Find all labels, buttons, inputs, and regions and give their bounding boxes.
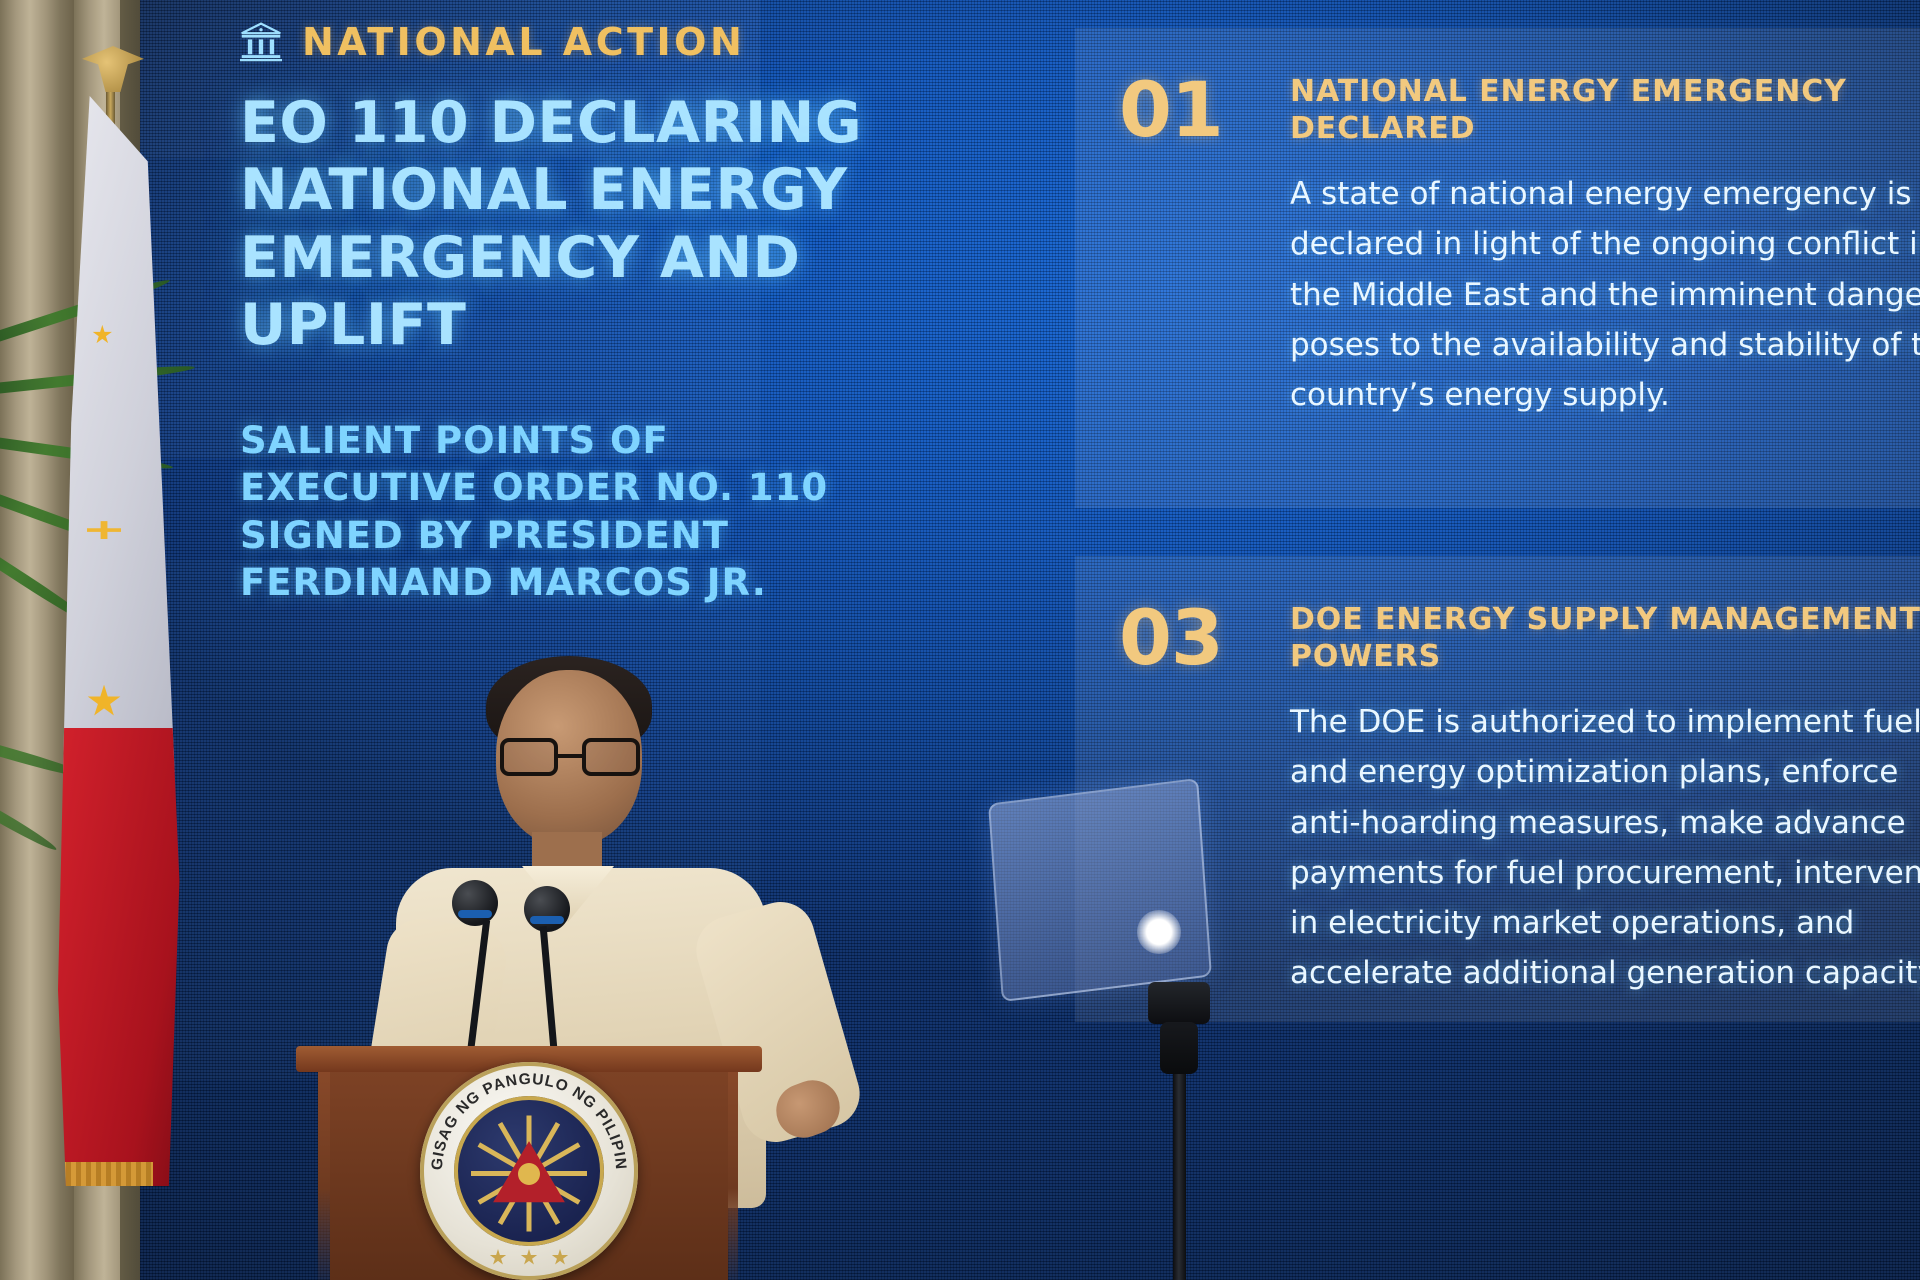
slide-card-01: 01 NATIONAL ENERGY EMERGENCY DECLARED A … — [1075, 28, 1920, 508]
kicker-label: NATIONAL ACTION — [302, 20, 745, 64]
slide-title: EO 110 DECLARING NATIONAL ENERGY EMERGEN… — [240, 90, 900, 359]
slide-kicker: NATIONAL ACTION — [240, 20, 900, 64]
microphone-left — [452, 880, 498, 926]
card-number: 01 — [1119, 74, 1254, 462]
bank-icon — [240, 22, 282, 62]
teleprompter-mount-knob — [1160, 1022, 1198, 1074]
seal-three-stars — [420, 1249, 638, 1266]
slide-subtitle: SALIENT POINTS OF EXECUTIVE ORDER NO. 11… — [240, 417, 900, 606]
card-title: NATIONAL ENERGY EMERGENCY DECLARED — [1290, 74, 1920, 147]
flag-red-field — [58, 728, 190, 1186]
eyeglasses-icon — [500, 738, 640, 776]
teleprompter-mount-head — [1148, 982, 1210, 1024]
microphone-right — [524, 886, 570, 932]
teleprompter-panel — [988, 778, 1212, 1002]
card-body: NATIONAL ENERGY EMERGENCY DECLARED A sta… — [1290, 74, 1920, 462]
card-body: DOE ENERGY SUPPLY MANAGEMENT POWERS The … — [1290, 602, 1920, 976]
slide-left-column: NATIONAL ACTION EO 110 DECLARING NATIONA… — [240, 20, 900, 606]
card-text: A state of national energy emergency is … — [1290, 169, 1920, 420]
teleprompter-light-glow — [1137, 910, 1181, 954]
seal-inner-disc — [454, 1096, 604, 1246]
seal-sea-lion — [518, 1163, 540, 1185]
presidential-seal: SAGISAG NG PANGULO NG PILIPINAS — [420, 1062, 638, 1280]
card-title: DOE ENERGY SUPPLY MANAGEMENT POWERS — [1290, 602, 1920, 675]
card-text: The DOE is authorized to implement fuel … — [1290, 697, 1920, 998]
screenshot-stage: NATIONAL ACTION EO 110 DECLARING NATIONA… — [0, 0, 1920, 1280]
